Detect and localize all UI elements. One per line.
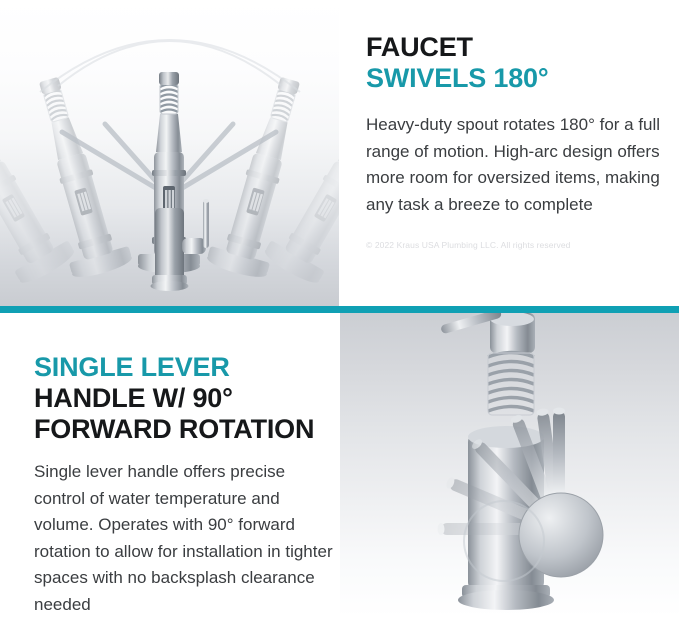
faucet-handle-rotation-diagram-icon	[340, 313, 679, 617]
handle-heading-line-1: SINGLE LEVER	[34, 352, 334, 383]
faucet-swivel-image-panel	[0, 0, 339, 306]
handle-body-text: Single lever handle offers precise contr…	[34, 459, 334, 617]
handle-rotation-image-panel	[340, 313, 679, 617]
teal-horizontal-divider	[0, 306, 679, 313]
handle-heading-line-2: HANDLE W/ 90°	[34, 383, 334, 414]
swivel-body-text: Heavy-duty spout rotates 180° for a full…	[366, 112, 666, 218]
swivel-heading-line-2: SWIVELS 180°	[366, 63, 666, 94]
product-feature-infographic: FAUCET SWIVELS 180° Heavy-duty spout rot…	[0, 0, 679, 617]
swivel-copy-block: FAUCET SWIVELS 180° Heavy-duty spout rot…	[366, 32, 666, 250]
copyright-notice: © 2022 Kraus USA Plumbing LLC. All right…	[366, 240, 666, 250]
handle-heading-line-3: FORWARD ROTATION	[34, 414, 334, 445]
vertical-divider-top	[339, 0, 340, 306]
swivel-heading-line-1: FAUCET	[366, 32, 666, 63]
faucet-swivel-diagram-icon	[0, 0, 339, 306]
handle-copy-block: SINGLE LEVER HANDLE W/ 90° FORWARD ROTAT…	[34, 352, 334, 617]
